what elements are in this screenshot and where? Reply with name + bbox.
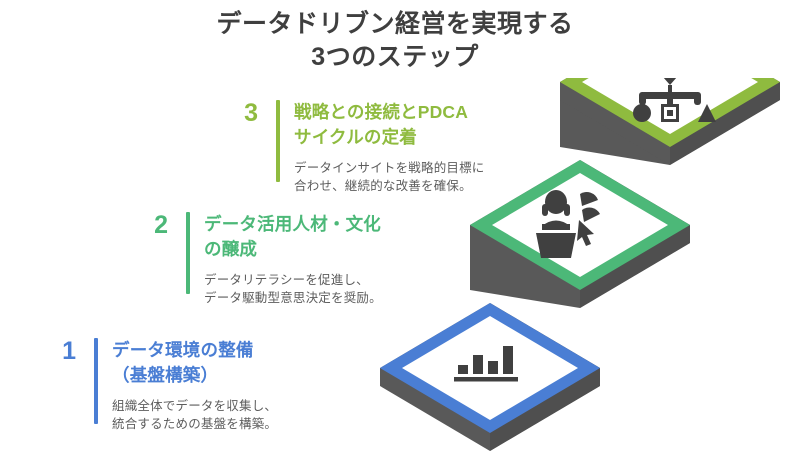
step-accent-bar-2	[186, 212, 190, 294]
infographic-canvas: データドリブン経営を実現する 3つのステップ 3 戦略との接続とPDCA サイク…	[0, 0, 790, 460]
step-number-1: 1	[46, 338, 76, 364]
step-body-1: データ環境の整備 （基盤構築） 組織全体でデータを収集し、 統合するための基盤を…	[112, 338, 277, 434]
step-number-2: 2	[138, 212, 168, 238]
step-heading-1: データ環境の整備 （基盤構築）	[112, 338, 277, 388]
step-accent-bar-1	[94, 338, 98, 424]
step-description-2: データリテラシーを促進し、 データ駆動型意思決定を奨励。	[204, 271, 382, 309]
isometric-staircase-diagram	[370, 78, 790, 460]
stair-step-1	[380, 303, 600, 451]
step-number-3: 3	[228, 100, 258, 126]
page-title-line-2: 3つのステップ	[0, 41, 790, 74]
stair-step-3	[560, 78, 780, 165]
step-item-1: 1 データ環境の整備 （基盤構築） 組織全体でデータを収集し、 統合するための基…	[46, 338, 277, 434]
stair-step-2	[470, 160, 690, 308]
step-item-2: 2 データ活用人材・文化 の醸成 データリテラシーを促進し、 データ駆動型意思決…	[138, 212, 382, 308]
step-accent-bar-3	[276, 100, 280, 182]
page-title: データドリブン経営を実現する 3つのステップ	[0, 8, 790, 73]
page-title-line-1: データドリブン経営を実現する	[0, 8, 790, 41]
step-heading-2: データ活用人材・文化 の醸成	[204, 212, 382, 262]
step-description-1: 組織全体でデータを収集し、 統合するための基盤を構築。	[112, 397, 277, 435]
step-body-2: データ活用人材・文化 の醸成 データリテラシーを促進し、 データ駆動型意思決定を…	[204, 212, 382, 308]
